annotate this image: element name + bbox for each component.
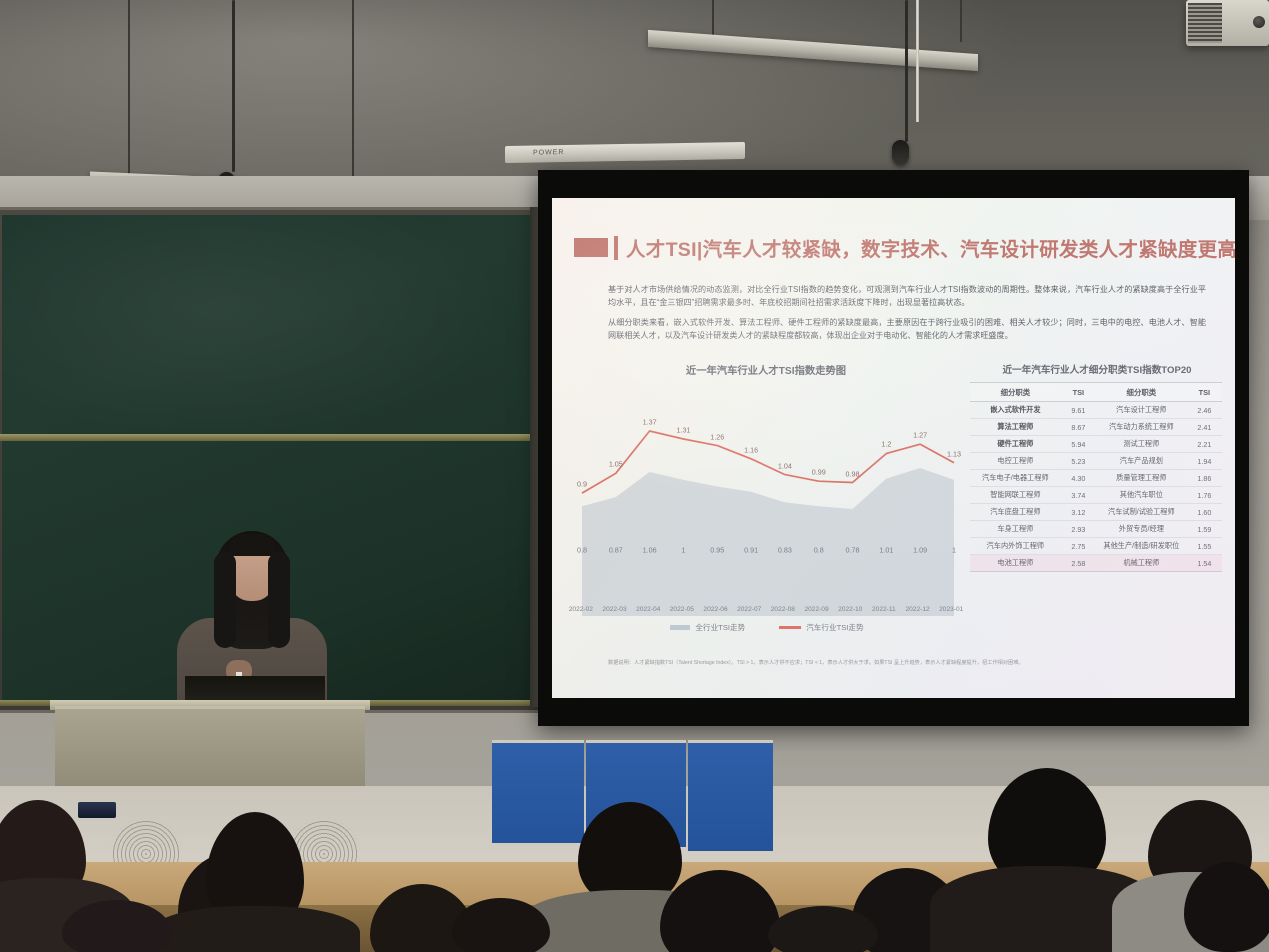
chart-legend: 全行业TSI走势 汽车行业TSI走势 [592,622,942,633]
slide: 人才TSI|汽车人才较紧缺，数字技术、汽车设计研发类人才紧缺度更高 基于对人才市… [552,198,1235,698]
table-header-row: 细分职类 TSI 细分职类 TSI [970,383,1222,402]
cell-category-right: 汽车设计工程师 [1096,402,1187,419]
cell-tsi-right: 1.55 [1187,538,1222,555]
cell-category-right: 汽车产品规划 [1096,453,1187,470]
slide-title-row: 人才TSI|汽车人才较紧缺，数字技术、汽车设计研发类人才紧缺度更高 [574,233,1235,262]
chart-svg [564,380,968,616]
line-data-label: 0.99 [812,468,826,477]
title-divider-icon [614,236,618,260]
lecture-hall-photo: POWER [0,0,1269,952]
cell-tsi-left: 2.93 [1061,521,1096,538]
table-row: 电控工程师5.23汽车产品规划1.94 [970,453,1222,470]
cell-tsi-right: 1.60 [1187,504,1222,521]
projection-screen: 人才TSI|汽车人才较紧缺，数字技术、汽车设计研发类人才紧缺度更高 基于对人才市… [552,198,1235,698]
table-row: 嵌入式软件开发9.61汽车设计工程师2.46 [970,402,1222,419]
column-header-category-right: 细分职类 [1096,383,1187,402]
area-data-label: 0.8 [814,546,824,555]
x-tick-label: 2022-08 [766,606,800,613]
tsi-top20-table: 细分职类 TSI 细分职类 TSI 嵌入式软件开发9.61汽车设计工程师2.46… [970,382,1222,572]
x-tick-label: 2022-12 [901,606,935,613]
table-title: 近一年汽车行业人才细分职类TSI指数TOP20 [972,362,1222,376]
legend-line-swatch-icon [779,626,801,629]
area-data-label: 1.06 [643,546,657,555]
line-data-label: 1.04 [778,461,792,470]
area-data-label: 1 [681,546,685,555]
hanging-microphone [892,140,909,165]
area-data-label: 0.91 [744,546,758,555]
table-row: 车身工程师2.93外贸专员/经理1.59 [970,521,1222,538]
cell-tsi-left: 2.58 [1061,555,1096,572]
area-data-label: 1 [952,546,956,555]
line-data-label: 1.27 [913,431,927,440]
page-title: 人才TSI|汽车人才较紧缺，数字技术、汽车设计研发类人才紧缺度更高 [626,233,1235,262]
x-tick-label: 2022-07 [732,606,766,613]
line-data-label: 1.16 [744,445,758,454]
x-tick-label: 2023-01 [934,606,968,613]
blue-notice-board-panel [492,740,584,843]
table-row: 算法工程师8.67汽车动力系统工程师2.41 [970,419,1222,436]
x-tick-label: 2022-03 [598,606,632,613]
cell-tsi-right: 1.76 [1187,487,1222,504]
screen-housing-label: POWER [533,149,564,157]
hanging-microphone-cable [232,0,235,172]
legend-label-auto-industry: 汽车行业TSI走势 [806,622,863,633]
x-tick-label: 2022-10 [833,606,867,613]
blue-notice-board-panel [688,740,773,851]
area-data-label: 1.01 [879,546,893,555]
chart-x-axis: 2022-022022-032022-042022-052022-062022-… [564,606,968,613]
lectern [55,706,365,794]
cell-category-right: 其他汽车职位 [1096,487,1187,504]
cell-category-left: 智能网联工程师 [970,487,1061,504]
cell-tsi-right: 1.94 [1187,453,1222,470]
line-data-label: 1.31 [676,425,690,434]
cell-category-left: 算法工程师 [970,419,1061,436]
presenter-bangs [228,534,276,556]
x-tick-label: 2022-11 [867,606,901,613]
projector-vent [1188,3,1222,43]
column-header-tsi-left: TSI [1061,383,1096,402]
cell-tsi-left: 5.23 [1061,453,1096,470]
cell-tsi-left: 5.94 [1061,436,1096,453]
legend-area-swatch-icon [670,625,690,630]
cell-tsi-right: 2.21 [1187,436,1222,453]
cell-tsi-right: 2.46 [1187,402,1222,419]
area-data-label: 0.87 [609,546,623,555]
legend-label-all-industry: 全行业TSI走势 [695,622,745,633]
cell-category-right: 质量管理工程师 [1096,470,1187,487]
x-tick-label: 2022-02 [564,606,598,613]
cell-tsi-right: 1.86 [1187,470,1222,487]
line-data-label: 0.98 [846,469,860,478]
cell-tsi-left: 2.75 [1061,538,1096,555]
chart-title: 近一年汽车行业人才TSI指数走势图 [576,362,956,377]
audience-shoulders [150,906,360,952]
cell-category-right: 外贸专员/经理 [1096,521,1187,538]
cell-category-left: 嵌入式软件开发 [970,402,1061,419]
area-data-label: 1.09 [913,546,927,555]
area-data-label: 0.8 [577,546,587,555]
table-row: 汽车底盘工程师3.12汽车试制/试验工程师1.60 [970,504,1222,521]
cell-category-right: 汽车动力系统工程师 [1096,419,1187,436]
cell-category-left: 电池工程师 [970,555,1061,572]
cell-tsi-left: 4.30 [1061,470,1096,487]
cell-category-left: 汽车底盘工程师 [970,504,1061,521]
x-tick-label: 2022-06 [699,606,733,613]
cell-tsi-left: 3.74 [1061,487,1096,504]
cell-tsi-left: 9.61 [1061,402,1096,419]
area-data-label: 0.83 [778,546,792,555]
x-tick-label: 2022-05 [665,606,699,613]
table-body: 嵌入式软件开发9.61汽车设计工程师2.46算法工程师8.67汽车动力系统工程师… [970,402,1222,572]
ac-control-panel [78,802,116,818]
light-wire [352,0,354,178]
cell-tsi-left: 3.12 [1061,504,1096,521]
table-row: 硬件工程师5.94测试工程师2.21 [970,436,1222,453]
table-row: 汽车内外饰工程师2.75其他生产/制造/研发职位1.55 [970,538,1222,555]
cell-category-right: 汽车试制/试验工程师 [1096,504,1187,521]
cell-category-right: 机械工程师 [1096,555,1187,572]
cell-category-left: 电控工程师 [970,453,1061,470]
line-data-label: 0.9 [577,480,587,489]
legend-item-all-industry: 全行业TSI走势 [670,622,745,633]
cell-tsi-right: 1.54 [1187,555,1222,572]
slide-paragraph-2: 从细分职类来看，嵌入式软件开发、算法工程师、硬件工程师的紧缺度最高，主要原因在于… [608,316,1206,342]
cell-tsi-left: 8.67 [1061,419,1096,436]
cell-category-right: 测试工程师 [1096,436,1187,453]
title-marker-square-icon [574,238,608,257]
presenter-hair-right [268,552,290,648]
table-row: 智能网联工程师3.74其他汽车职位1.76 [970,487,1222,504]
light-wire [960,0,962,42]
all-industry-area [582,468,954,616]
area-data-label: 0.95 [710,546,724,555]
x-tick-label: 2022-09 [800,606,834,613]
cell-tsi-right: 1.59 [1187,521,1222,538]
legend-item-auto-industry: 汽车行业TSI走势 [779,622,863,633]
line-data-label: 1.13 [947,449,961,458]
hanging-microphone-cable [905,0,908,142]
light-wire [128,0,130,182]
line-data-label: 1.26 [710,432,724,441]
line-data-label: 1.37 [643,418,657,427]
cell-category-left: 车身工程师 [970,521,1061,538]
column-header-tsi-right: TSI [1187,383,1222,402]
table-row: 汽车电子/电器工程师4.30质量管理工程师1.86 [970,470,1222,487]
table-row: 电池工程师2.58机械工程师1.54 [970,555,1222,572]
cell-category-right: 其他生产/制造/研发职位 [1096,538,1187,555]
slide-paragraph-1: 基于对人才市场供给情况的动态监测，对比全行业TSI指数的趋势变化，可观测到汽车行… [608,283,1206,309]
column-header-category-left: 细分职类 [970,383,1061,402]
line-data-label: 1.2 [881,440,891,449]
area-data-label: 0.78 [846,546,860,555]
table: 细分职类 TSI 细分职类 TSI 嵌入式软件开发9.61汽车设计工程师2.46… [970,382,1222,572]
line-data-label: 1.05 [609,460,623,469]
cell-category-left: 硬件工程师 [970,436,1061,453]
tsi-trend-chart: 0.91.051.371.311.261.161.040.990.981.21.… [564,380,968,616]
presenter-hair-left [214,552,236,648]
slide-footnote: 数据说明：人才紧缺指数TSI（Talent Shortage Index）。TS… [608,660,1188,667]
blackboard-middle-rail [0,434,545,441]
projector-lens-icon [1253,16,1265,28]
screen-hang-rod [916,0,919,122]
x-tick-label: 2022-04 [631,606,665,613]
cell-category-left: 汽车内外饰工程师 [970,538,1061,555]
cell-category-left: 汽车电子/电器工程师 [970,470,1061,487]
cell-tsi-right: 2.41 [1187,419,1222,436]
